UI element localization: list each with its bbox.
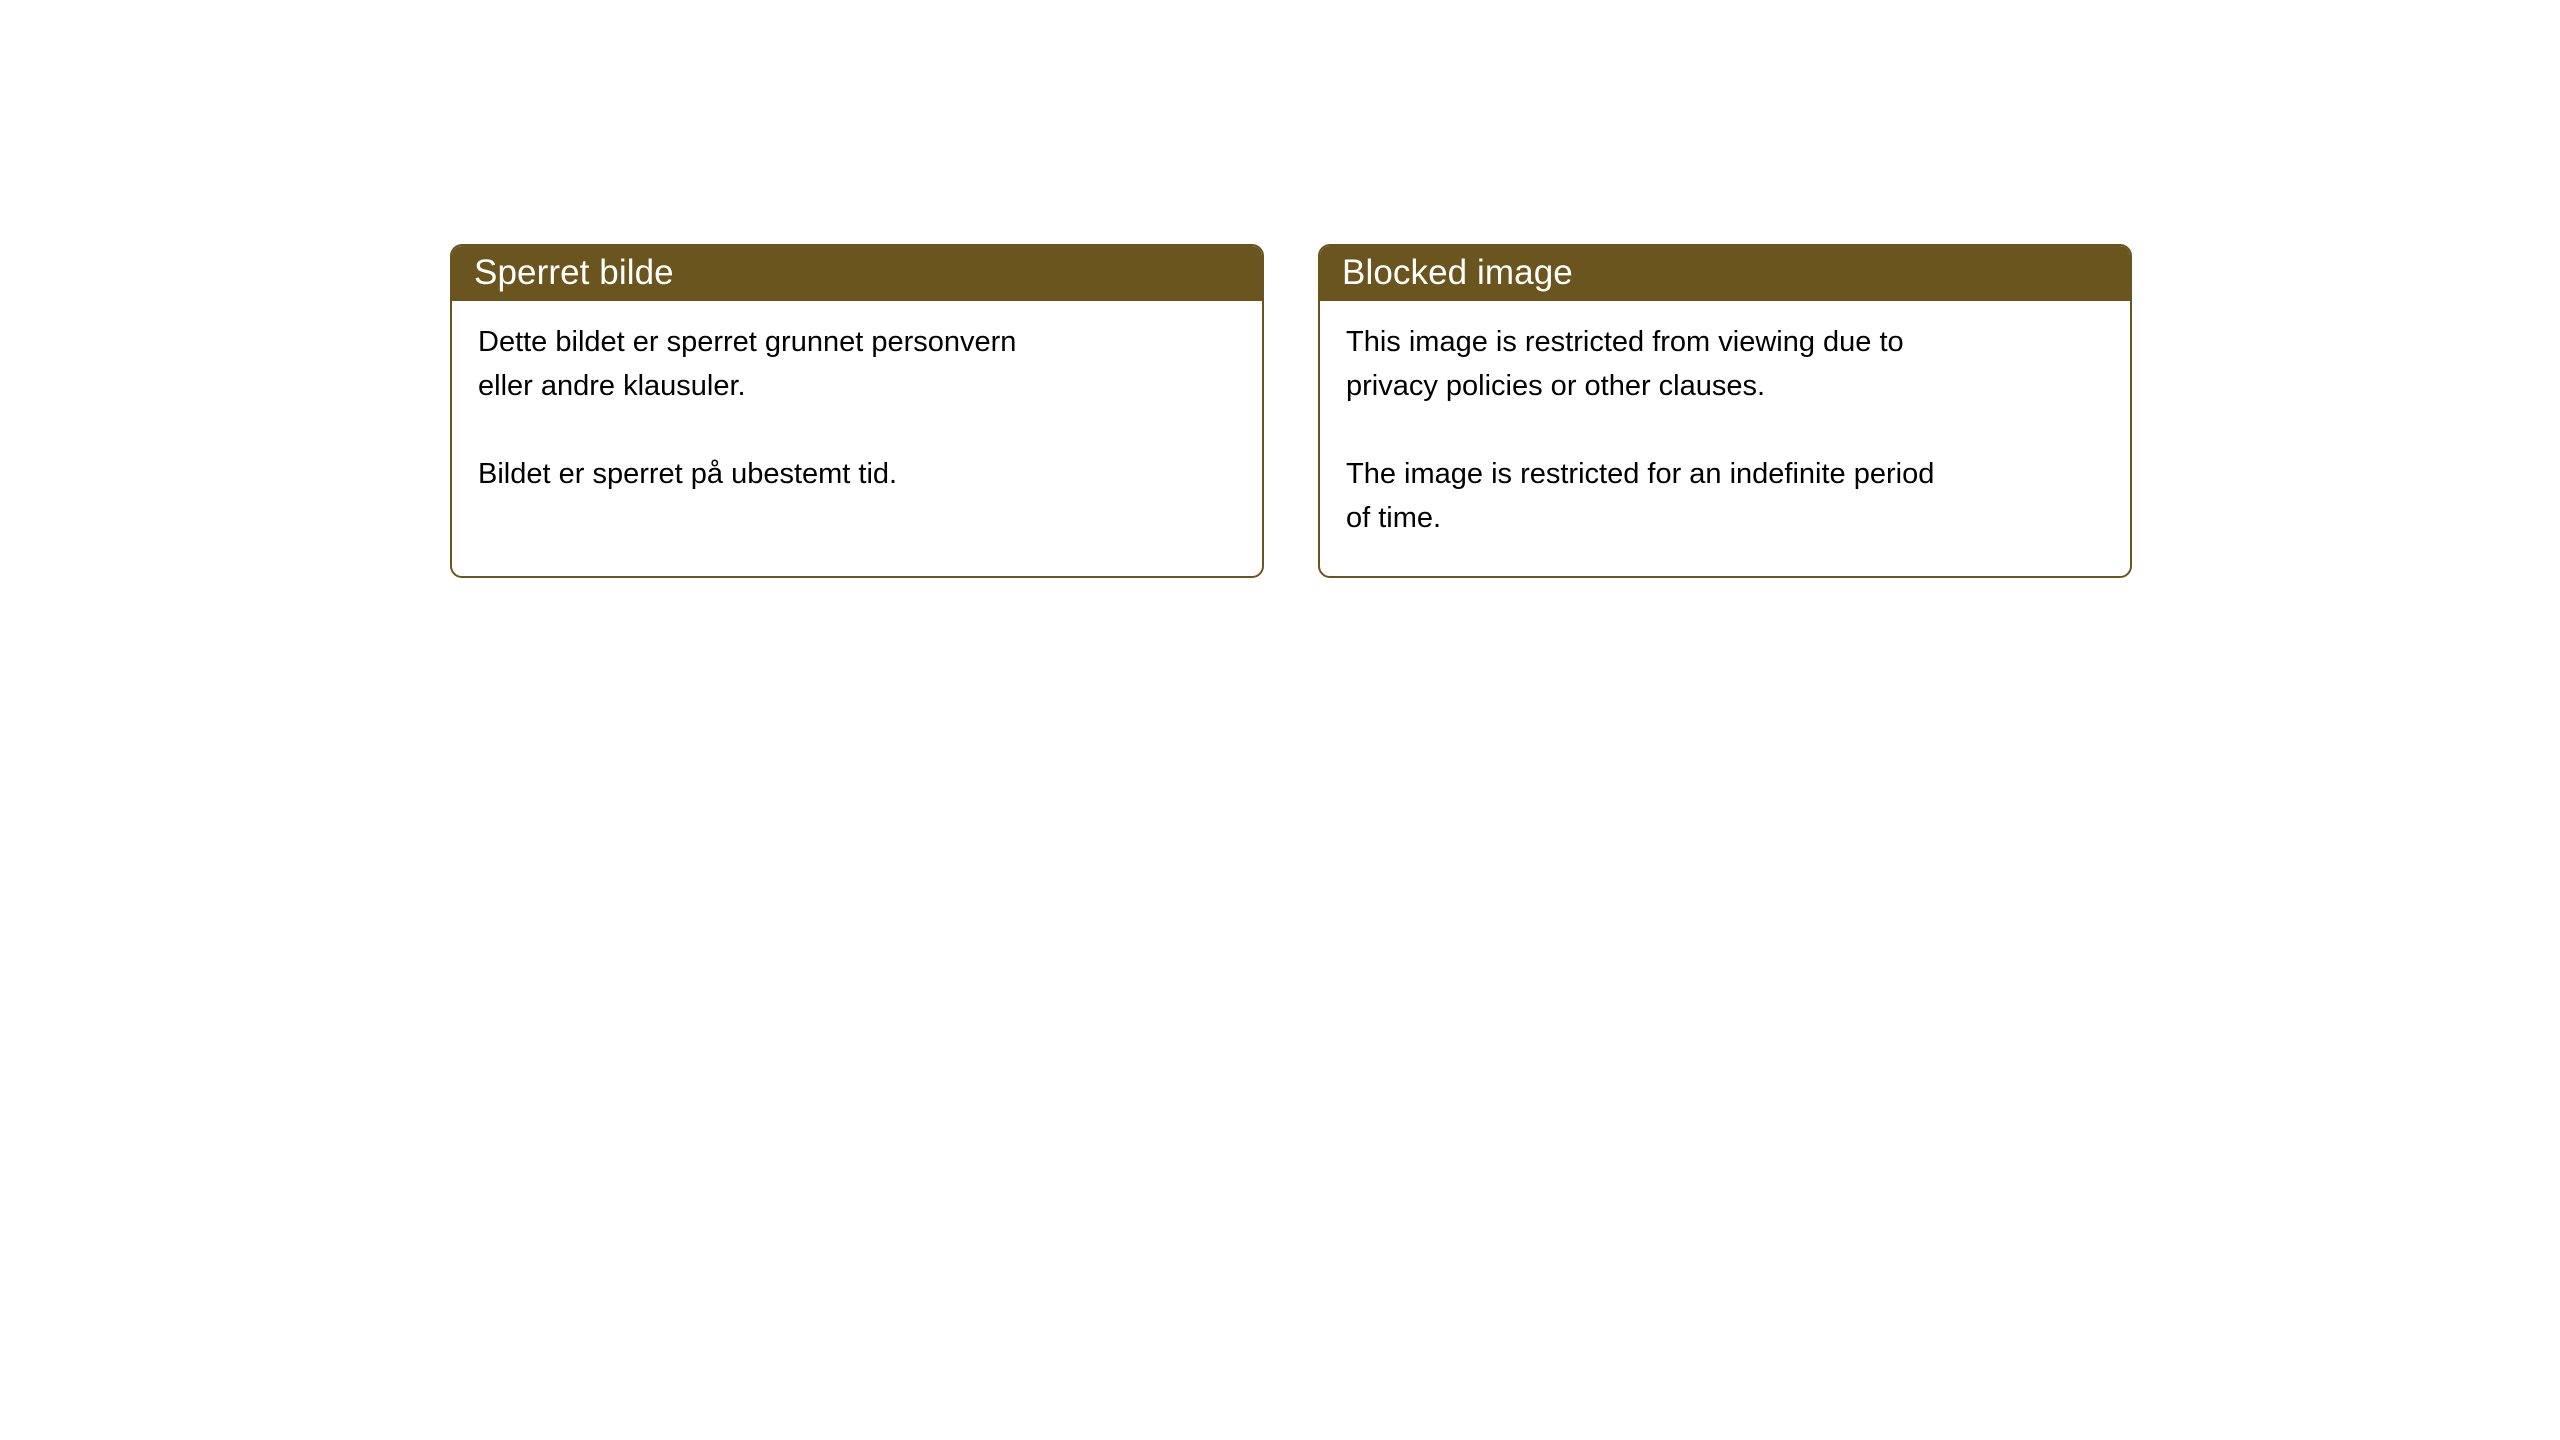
- card-header-norwegian: Sperret bilde: [450, 244, 1264, 301]
- card-paragraph-secondary-norwegian: Bildet er sperret på ubestemt tid.: [478, 452, 1240, 496]
- card-paragraph-primary-english: This image is restricted from viewing du…: [1346, 320, 2108, 408]
- card-body-english: This image is restricted from viewing du…: [1320, 301, 2130, 540]
- card-body-norwegian: Dette bildet er sperret grunnet personve…: [452, 301, 1262, 496]
- card-title-norwegian: Sperret bilde: [474, 255, 674, 290]
- card-title-english: Blocked image: [1342, 255, 1573, 290]
- blocked-image-card-english: Blocked image This image is restricted f…: [1318, 244, 2132, 578]
- page-root: Sperret bilde Dette bildet er sperret gr…: [0, 0, 2560, 1440]
- card-paragraph-primary-norwegian: Dette bildet er sperret grunnet personve…: [478, 320, 1240, 408]
- blocked-image-card-norwegian: Sperret bilde Dette bildet er sperret gr…: [450, 244, 1264, 578]
- card-paragraph-secondary-english: The image is restricted for an indefinit…: [1346, 452, 2108, 540]
- card-header-english: Blocked image: [1318, 244, 2132, 301]
